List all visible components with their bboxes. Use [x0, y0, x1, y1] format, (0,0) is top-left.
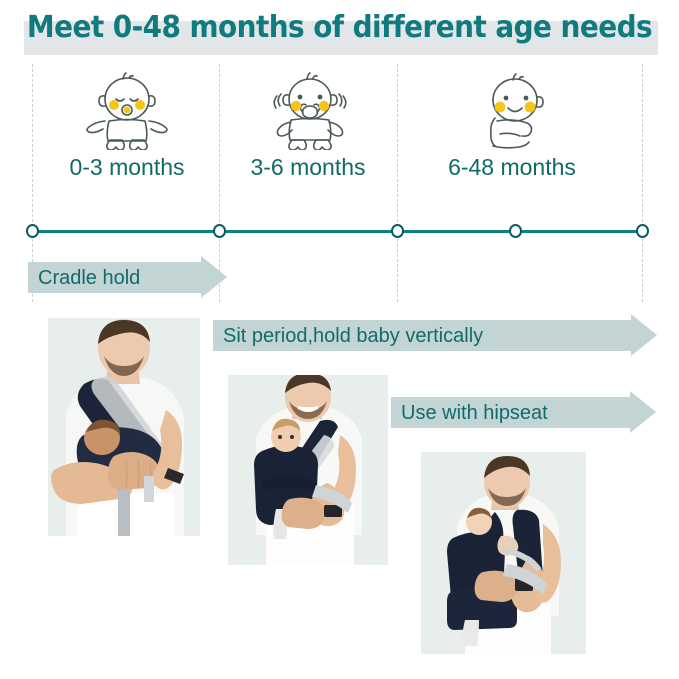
age-label-0-3: 0-3 months: [27, 152, 227, 182]
usage-band-label: Sit period,hold baby vertically: [213, 325, 483, 347]
column-divider-mid-2: [397, 64, 398, 302]
age-label-6-48: 6-48 months: [412, 152, 612, 182]
baby-lying-icon: [52, 72, 202, 150]
usage-band-sit-period: Sit period,hold baby vertically: [213, 320, 631, 351]
stage-icon-0-3-months: [52, 72, 202, 152]
age-label-3-6: 3-6 months: [208, 152, 408, 182]
arrow-head-icon: [631, 314, 657, 356]
timeline-tick-0: [26, 224, 39, 238]
stage-icon-6-48-months: [440, 72, 590, 152]
baby-sitting-icon: [440, 72, 590, 150]
photo-front-carry: [228, 375, 388, 565]
timeline-tick-2: [391, 224, 404, 238]
stage-icon-3-6-months: [235, 72, 385, 152]
timeline-tick-1: [213, 224, 226, 238]
page-title: Meet 0-48 months of different age needs: [24, 10, 655, 46]
timeline-tick-3: [509, 224, 522, 238]
photo-hipseat: [421, 452, 586, 654]
usage-band-label: Cradle hold: [28, 267, 140, 289]
timeline-axis: [32, 230, 643, 233]
photo-cradle-hold: [48, 318, 200, 536]
usage-band-cradle-hold: Cradle hold: [28, 262, 201, 293]
usage-band-label: Use with hipseat: [391, 402, 548, 424]
arrow-head-icon: [630, 391, 656, 433]
usage-band-hipseat: Use with hipseat: [391, 397, 630, 428]
timeline-tick-4: [636, 224, 649, 238]
infographic-root: Meet 0-48 months of different age needs: [0, 0, 679, 679]
arrow-head-icon: [201, 256, 227, 298]
column-divider-right: [642, 64, 643, 302]
baby-pacifier-icon: [235, 72, 385, 150]
